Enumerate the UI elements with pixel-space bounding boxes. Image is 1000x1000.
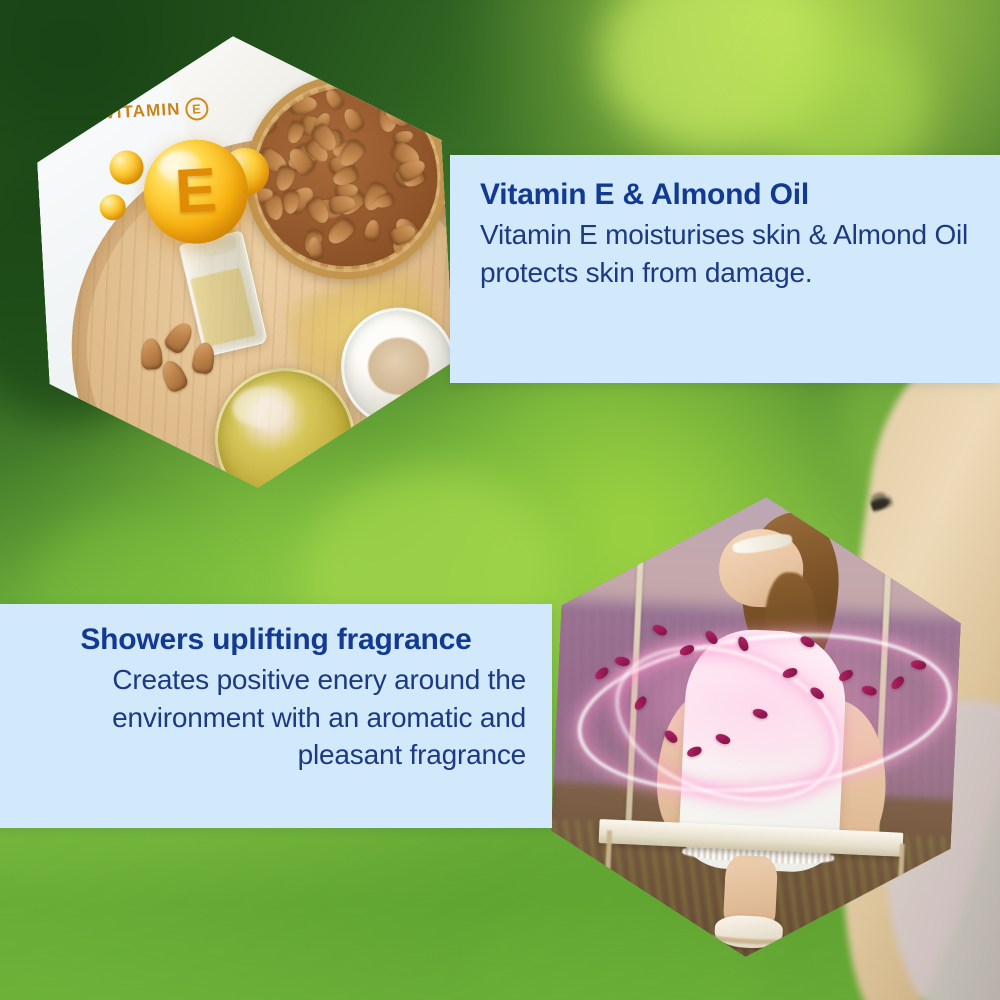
feature-title: Showers uplifting fragrance bbox=[26, 622, 526, 657]
vitamin-e-badge: VITAMIN E E bbox=[99, 89, 359, 265]
feature-body: Creates positive enery around the enviro… bbox=[26, 661, 526, 773]
oil-droplet-small bbox=[109, 149, 145, 185]
almond bbox=[140, 337, 163, 369]
almond bbox=[162, 319, 197, 356]
feature-panel-fragrance: Showers uplifting fragrance Creates posi… bbox=[0, 604, 552, 828]
feature-body: Vitamin E moisturises skin & Almond Oil … bbox=[480, 216, 970, 290]
feature-panel-vitamin-e: Vitamin E & Almond Oil Vitamin E moistur… bbox=[450, 155, 1000, 383]
droplet-letter: E bbox=[174, 160, 219, 224]
almond bbox=[191, 341, 216, 375]
feature-title: Vitamin E & Almond Oil bbox=[480, 177, 970, 212]
loose-almonds bbox=[135, 317, 237, 413]
infographic-canvas: VITAMIN E E Vitamin E & Almond Oil Vitam… bbox=[0, 0, 1000, 1000]
almond bbox=[158, 357, 190, 394]
vitamin-e-circle-icon: E bbox=[185, 97, 209, 121]
